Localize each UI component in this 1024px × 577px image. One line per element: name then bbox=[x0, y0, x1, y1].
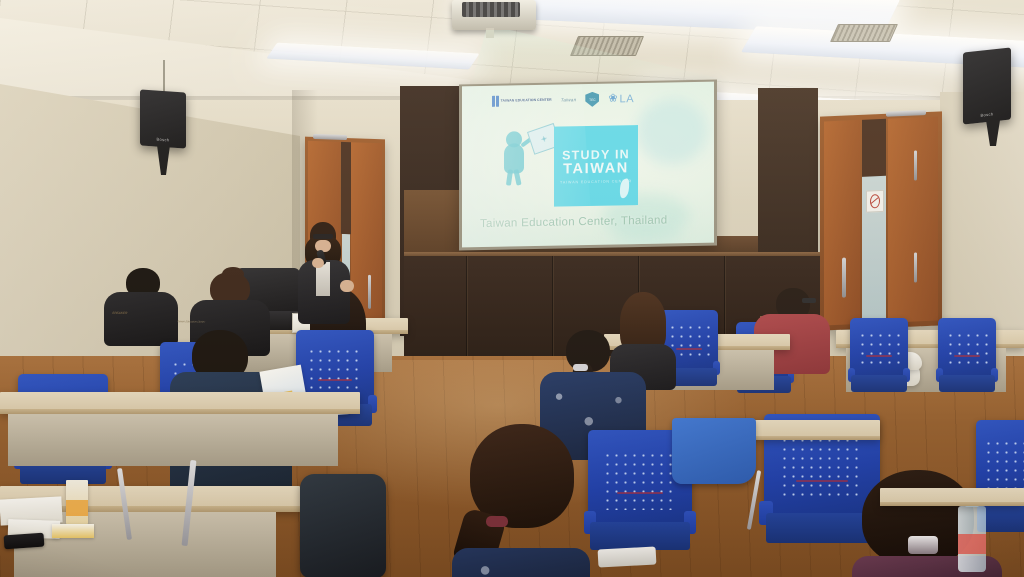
chair-empty-back-1[interactable] bbox=[850, 318, 908, 404]
speaker-cable bbox=[163, 60, 165, 94]
door-right-upper-panel bbox=[862, 119, 886, 178]
hair-clip bbox=[908, 536, 938, 554]
projection-screen-frame: TAIWAN EDUCATION CENTER Taiwan TEC ❀ LA … bbox=[459, 80, 717, 251]
chair-empty-back-2[interactable] bbox=[938, 318, 996, 404]
attendee-torso bbox=[452, 548, 590, 577]
door-right-hinge-2 bbox=[914, 252, 917, 282]
no-smoking-sign bbox=[866, 190, 884, 213]
wall-speaker-right: Bosch bbox=[963, 47, 1011, 124]
wall-speaker-left: Bosch bbox=[140, 89, 186, 148]
door-left-closer bbox=[313, 134, 347, 140]
seminar-room-photo: Bosch Bosch TAIWAN EDUCATION CENTER Taiw… bbox=[0, 0, 1024, 577]
ceiling-mounted-projector bbox=[452, 0, 536, 30]
hair-tie bbox=[486, 516, 508, 527]
door-right-leaf-b bbox=[888, 117, 938, 323]
hair-bun bbox=[222, 267, 244, 281]
table-foreground-right bbox=[880, 488, 1024, 506]
speaker-brand-label: Bosch bbox=[140, 135, 186, 143]
presenter-hand-mic bbox=[312, 258, 324, 268]
juice-carton bbox=[66, 480, 88, 524]
door-right-closer bbox=[886, 110, 926, 117]
presenter-speaker bbox=[296, 222, 352, 334]
attendee-man-suit-left bbox=[104, 268, 178, 344]
presenter-glasses-icon bbox=[313, 234, 333, 239]
table-left-front-panel bbox=[8, 414, 338, 466]
table-left-front bbox=[0, 392, 360, 414]
projector-lens bbox=[462, 2, 520, 17]
attendee-woman-foreground-center bbox=[452, 424, 590, 577]
water-bottle bbox=[958, 506, 986, 572]
hair-tie bbox=[573, 364, 588, 371]
glasses-icon bbox=[802, 298, 816, 303]
smartphone-white[interactable] bbox=[598, 546, 657, 567]
presenter-hand-gesture bbox=[340, 280, 354, 292]
smartphone-black[interactable] bbox=[4, 533, 45, 550]
blue-jacket bbox=[672, 418, 756, 484]
air-vent-3 bbox=[830, 24, 898, 42]
backpack bbox=[300, 474, 386, 577]
door-right-hinge-1 bbox=[914, 150, 917, 180]
small-snack-pack bbox=[52, 524, 94, 538]
door-left-upper-panel bbox=[341, 142, 351, 234]
bottle-label bbox=[958, 534, 986, 554]
screen-vignette bbox=[462, 82, 714, 248]
door-right-handle[interactable] bbox=[842, 258, 846, 298]
projection-screen: TAIWAN EDUCATION CENTER Taiwan TEC ❀ LA … bbox=[462, 82, 714, 248]
wall-panel-wood-left bbox=[404, 190, 462, 256]
speaker-brand-label-right: Bosch bbox=[963, 109, 1011, 119]
door-right[interactable] bbox=[820, 111, 942, 330]
